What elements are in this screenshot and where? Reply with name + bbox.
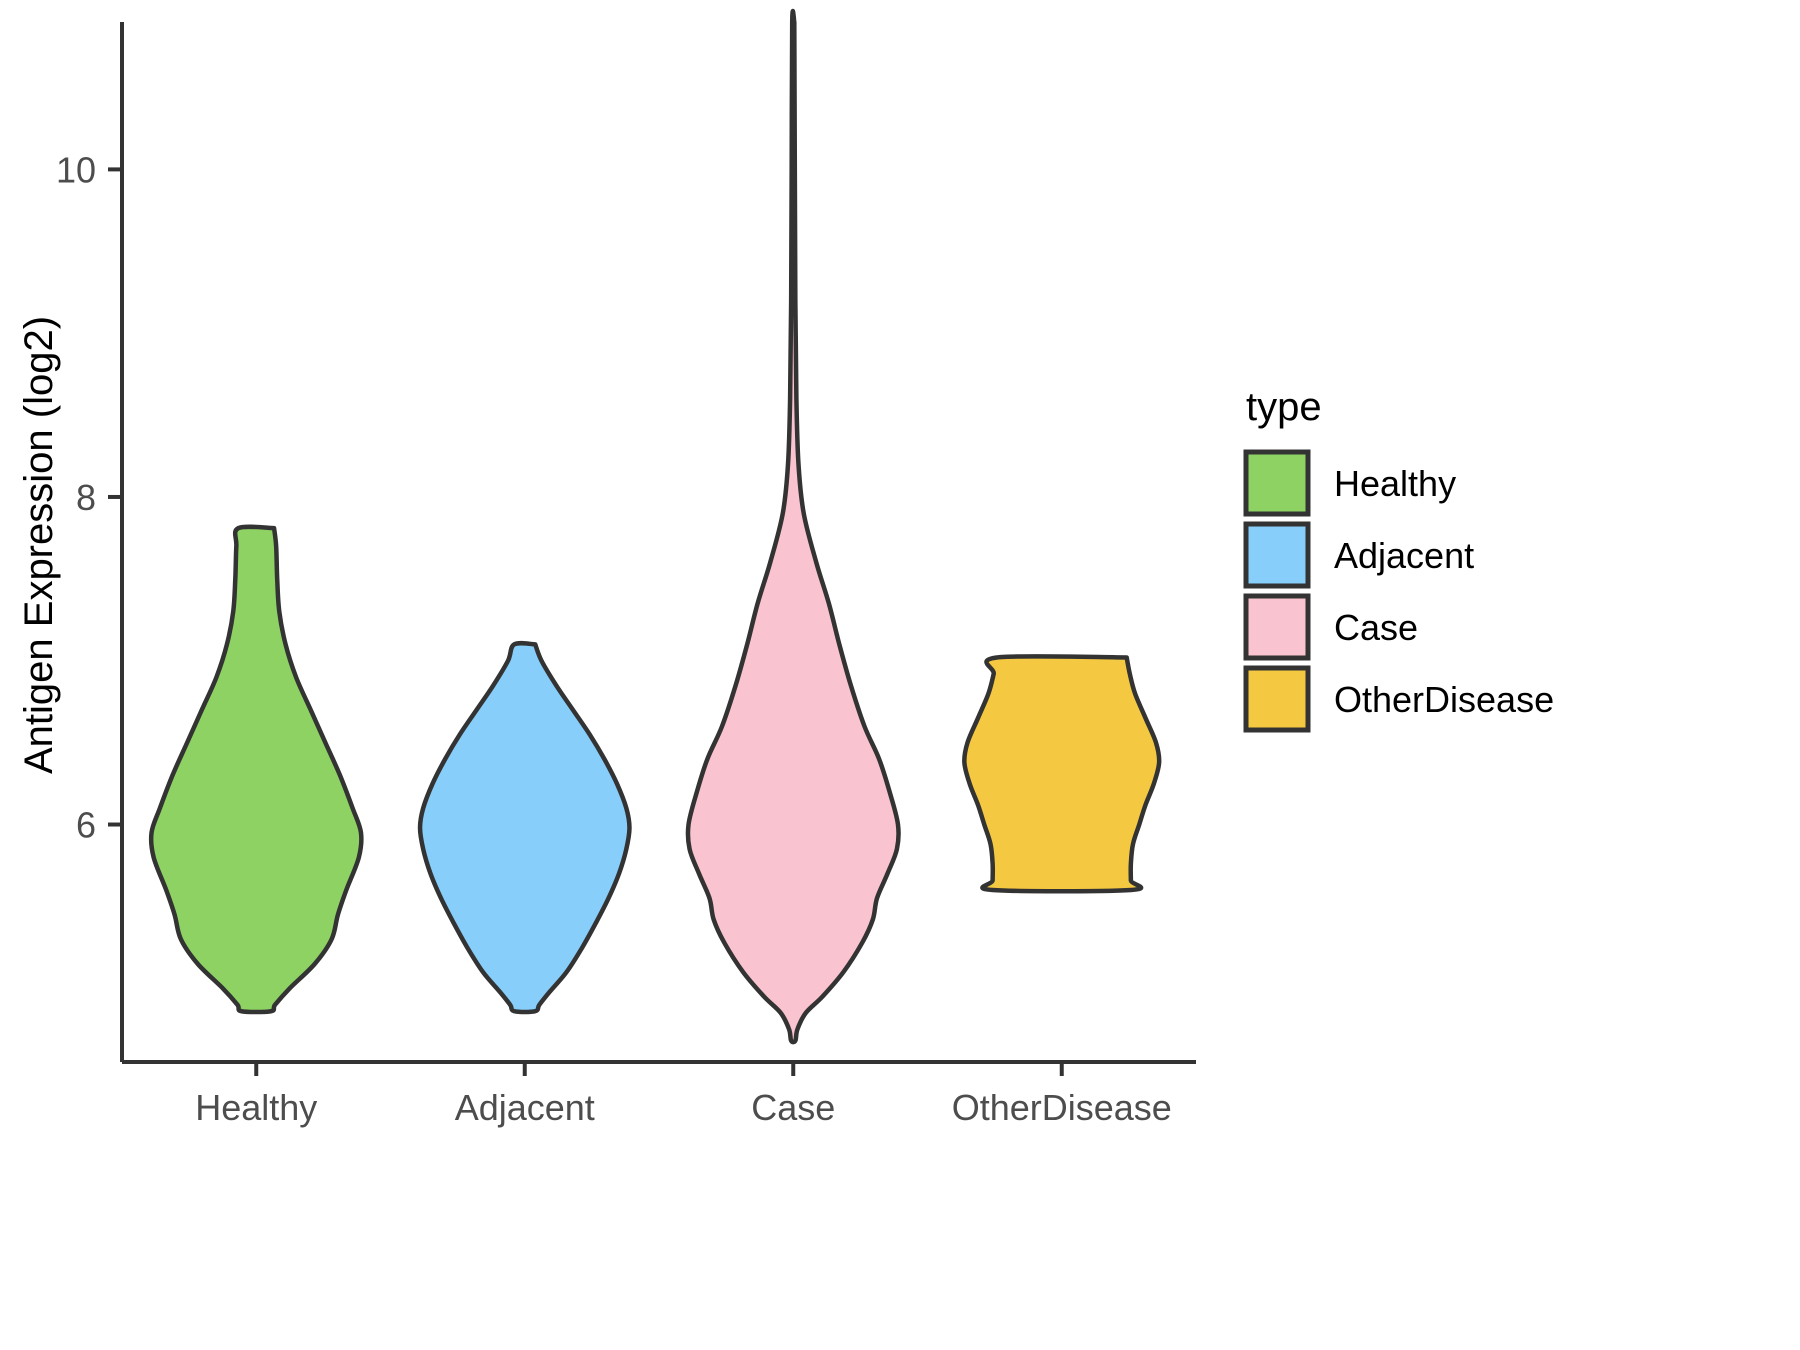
- x-axis-ticks: [256, 1062, 1062, 1076]
- x-axis-tick-labels: HealthyAdjacentCaseOtherDisease: [195, 1087, 1172, 1128]
- legend-label-otherdisease[interactable]: OtherDisease: [1334, 679, 1554, 720]
- x-tick-label: Adjacent: [455, 1087, 595, 1128]
- legend-swatch-adjacent[interactable]: [1246, 524, 1308, 586]
- plot-canvas: 6810 HealthyAdjacentCaseOtherDisease Ant…: [0, 0, 1800, 1350]
- violin-healthy: [151, 527, 361, 1012]
- y-tick-label: 8: [76, 477, 96, 518]
- legend-title: type: [1246, 385, 1322, 429]
- violin-plot-figure: 6810 HealthyAdjacentCaseOtherDisease Ant…: [0, 0, 1800, 1350]
- legend-label-case[interactable]: Case: [1334, 607, 1418, 648]
- violin-otherdisease: [964, 656, 1159, 891]
- violin-adjacent: [420, 643, 629, 1012]
- legend: type HealthyAdjacentCaseOtherDisease: [1246, 385, 1554, 730]
- violin-case: [688, 11, 899, 1042]
- y-tick-label: 6: [76, 805, 96, 846]
- legend-items: HealthyAdjacentCaseOtherDisease: [1246, 452, 1554, 730]
- legend-swatch-healthy[interactable]: [1246, 452, 1308, 514]
- legend-swatch-case[interactable]: [1246, 596, 1308, 658]
- legend-swatch-otherdisease[interactable]: [1246, 668, 1308, 730]
- x-tick-label: OtherDisease: [952, 1087, 1172, 1128]
- y-axis-ticks: [108, 169, 122, 824]
- y-axis-tick-labels: 6810: [56, 149, 96, 845]
- violin-shapes-group: [151, 11, 1159, 1042]
- legend-label-healthy[interactable]: Healthy: [1334, 463, 1456, 504]
- x-tick-label: Healthy: [195, 1087, 317, 1128]
- legend-label-adjacent[interactable]: Adjacent: [1334, 535, 1474, 576]
- y-axis-title: Antigen Expression (log2): [17, 316, 61, 774]
- x-tick-label: Case: [751, 1087, 835, 1128]
- y-tick-label: 10: [56, 149, 96, 190]
